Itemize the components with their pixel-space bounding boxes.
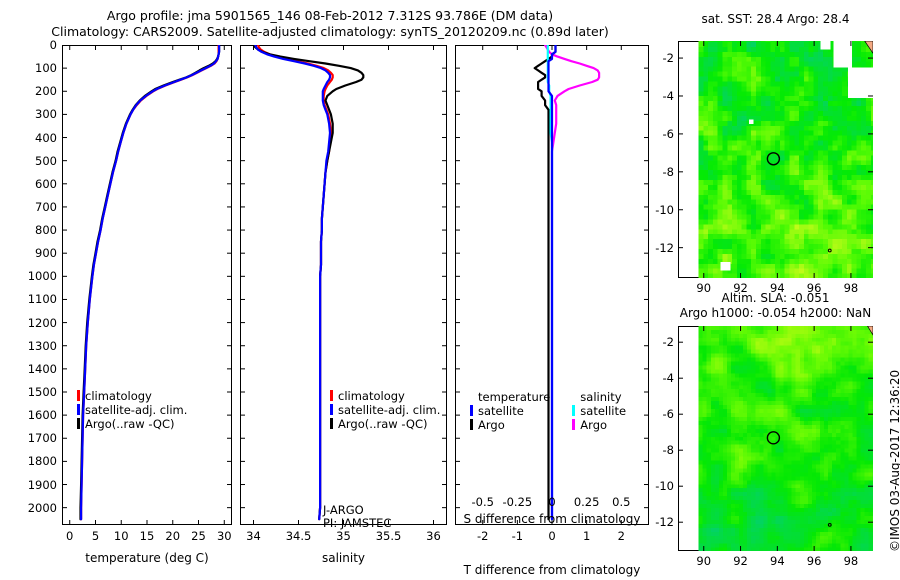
map-no-data-patch (833, 41, 851, 68)
argo-temperature-line (81, 45, 220, 519)
sst-map-title: sat. SST: 28.4 Argo: 28.4 (668, 12, 883, 27)
sla-map-title: Altim. SLA: -0.051 Argo h1000: -0.054 h2… (663, 291, 888, 321)
axis-tick-label: 1900 (28, 478, 57, 492)
legend-color-swatch (330, 390, 333, 401)
difference-legend-item: Argo (572, 418, 626, 432)
legend-color-swatch (572, 405, 575, 416)
axis-tick-label: 1800 (28, 454, 57, 468)
axis-tick-label: -6 (663, 127, 674, 141)
climatology-salinity-line (258, 45, 333, 519)
legend-label: satellite-adj. clim. (338, 403, 440, 417)
axis-tick-label: 15 (140, 529, 155, 543)
axis-tick-label: -8 (663, 165, 674, 179)
legend-label: Argo(..raw -QC) (85, 417, 175, 431)
figure-title: Argo profile: jma 5901565_146 08-Feb-201… (0, 8, 660, 40)
axis-tick-label: 98 (844, 554, 859, 568)
axis-tick-label: 0 (50, 38, 57, 52)
axis-tick-label: 0.5 (612, 495, 630, 509)
sst-map-plot (678, 41, 873, 278)
temperature-axis-label: temperature (deg C) (62, 551, 232, 565)
legend-label: Argo(..raw -QC) (338, 417, 428, 431)
argo-salinity-line (254, 45, 364, 519)
axis-tick-label: -2 (477, 529, 488, 543)
pi-jamstec-annotation: PI: JAMSTEC (323, 516, 391, 530)
axis-tick-label: 0.25 (574, 495, 600, 509)
difference-legend-column: salinitysatelliteArgo (572, 390, 626, 432)
axis-tick-label: 96 (807, 554, 822, 568)
temperature-legend: climatologysatellite-adj. clim.Argo(..ra… (77, 389, 187, 431)
sla-title-line-1: Altim. SLA: -0.051 (663, 291, 888, 306)
axis-tick-label: 34 (246, 529, 261, 543)
difference-legend: temperaturesatelliteArgosalinitysatellit… (470, 390, 626, 432)
axis-tick-label: 35 (336, 529, 351, 543)
difference-legend-header: temperature (478, 390, 550, 404)
axis-tick-label: -4 (663, 89, 674, 103)
axis-tick-label: 1100 (28, 292, 57, 306)
map-raster (699, 326, 873, 551)
salinity-profile-plot (240, 45, 447, 525)
axis-tick-label: 700 (35, 200, 57, 214)
difference-legend-column: temperaturesatelliteArgo (470, 390, 550, 432)
axis-tick-label: -0.25 (502, 495, 532, 509)
legend-color-swatch (470, 419, 473, 430)
axis-tick-label: 2000 (28, 501, 57, 515)
axis-tick-label: -2 (663, 335, 674, 349)
axis-tick-label: 0 (66, 529, 73, 543)
axis-tick-label: -12 (655, 241, 674, 255)
salinity-legend-item: Argo(..raw -QC) (330, 417, 440, 431)
axis-tick-label: 1300 (28, 339, 57, 353)
axis-tick-label: 2 (618, 529, 625, 543)
axis-tick-label: 10 (114, 529, 129, 543)
legend-label: satellite (580, 404, 626, 418)
axis-tick-label: 1500 (28, 385, 57, 399)
imos-credit: ©IMOS 03-Aug-2017 12:36:20 (888, 370, 900, 552)
axis-tick-label: -10 (655, 479, 674, 493)
salinity-legend-item: climatology (330, 389, 440, 403)
axis-tick-label: 1400 (28, 362, 57, 376)
axis-tick-label: 1 (583, 529, 590, 543)
difference-legend-item: satellite (470, 404, 550, 418)
j-argo-annotation: J-ARGO (323, 503, 364, 517)
temperature-legend-item: satellite-adj. clim. (77, 403, 187, 417)
difference-legend-item: satellite (572, 404, 626, 418)
axis-tick-label: -8 (663, 443, 674, 457)
map-no-data-patch (821, 41, 831, 50)
legend-label: climatology (338, 389, 405, 403)
map-no-data-patch (749, 120, 754, 124)
salinity-difference-axis-label: S difference from climatology (455, 512, 649, 526)
difference-legend-header: salinity (580, 390, 626, 404)
axis-tick-label: 1600 (28, 408, 57, 422)
sla-title-line-2: Argo h1000: -0.054 h2000: NaN (663, 306, 888, 321)
axis-tick-label: 36 (426, 529, 441, 543)
axis-tick-label: 500 (35, 154, 57, 168)
axis-tick-label: 600 (35, 177, 57, 191)
argo-salinity-difference-line (545, 45, 599, 519)
axis-tick-label: 20 (165, 529, 180, 543)
satellite-adj-temperature-line (81, 45, 219, 519)
legend-color-swatch (330, 418, 333, 429)
axis-tick-label: 34.5 (286, 529, 312, 543)
axis-tick-label: 30 (217, 529, 232, 543)
axis-tick-label: 200 (35, 84, 57, 98)
legend-color-swatch (470, 405, 473, 416)
temperature-legend-item: climatology (77, 389, 187, 403)
map-no-data-patch (720, 262, 730, 271)
legend-color-swatch (77, 390, 80, 401)
axis-tick-label: -12 (655, 515, 674, 529)
legend-label: satellite (478, 404, 524, 418)
legend-label: satellite-adj. clim. (85, 403, 187, 417)
title-line-1: Argo profile: jma 5901565_146 08-Feb-201… (0, 8, 660, 24)
legend-color-swatch (330, 404, 333, 415)
satellite-adj-salinity-line (255, 45, 330, 519)
difference-profile-plot (455, 45, 649, 525)
temperature-profile-plot (62, 45, 232, 525)
salinity-legend-item: satellite-adj. clim. (330, 403, 440, 417)
axis-tick-label: 900 (35, 246, 57, 260)
legend-label: climatology (85, 389, 152, 403)
axis-tick-label: -6 (663, 407, 674, 421)
axis-tick-label: 35.5 (376, 529, 402, 543)
axis-tick-label: 400 (35, 131, 57, 145)
axis-tick-label: -4 (663, 371, 674, 385)
salinity-axis-label: salinity (240, 551, 447, 565)
climatology-temperature-line (81, 45, 219, 519)
map-raster (699, 41, 873, 278)
axis-tick-label: 0 (548, 529, 555, 543)
axis-tick-label: 0 (548, 495, 555, 509)
legend-color-swatch (572, 419, 575, 430)
temperature-legend-item: Argo(..raw -QC) (77, 417, 187, 431)
map-no-data-patch (848, 68, 873, 98)
axis-tick-label: 5 (92, 529, 99, 543)
axis-tick-label: -2 (663, 51, 674, 65)
axis-tick-label: 1700 (28, 431, 57, 445)
legend-label: Argo (580, 418, 607, 432)
axis-tick-label: 92 (733, 554, 748, 568)
axis-tick-label: -0.5 (471, 495, 493, 509)
axis-tick-label: 100 (35, 61, 57, 75)
axis-tick-label: -1 (512, 529, 523, 543)
axis-tick-label: 25 (191, 529, 206, 543)
axis-tick-label: 94 (770, 554, 785, 568)
axis-tick-label: 90 (696, 554, 711, 568)
axis-tick-label: 1000 (28, 269, 57, 283)
salinity-legend: climatologysatellite-adj. clim.Argo(..ra… (330, 389, 440, 431)
legend-color-swatch (77, 418, 80, 429)
temperature-difference-axis-label: T difference from climatology (451, 563, 653, 577)
sla-map-plot (678, 326, 873, 551)
legend-color-swatch (77, 404, 80, 415)
title-line-2: Climatology: CARS2009. Satellite-adjuste… (0, 24, 660, 40)
axis-tick-label: 1200 (28, 316, 57, 330)
axis-tick-label: 800 (35, 223, 57, 237)
legend-label: Argo (478, 418, 505, 432)
difference-legend-item: Argo (470, 418, 550, 432)
axis-tick-label: -10 (655, 203, 674, 217)
axis-tick-label: 300 (35, 107, 57, 121)
